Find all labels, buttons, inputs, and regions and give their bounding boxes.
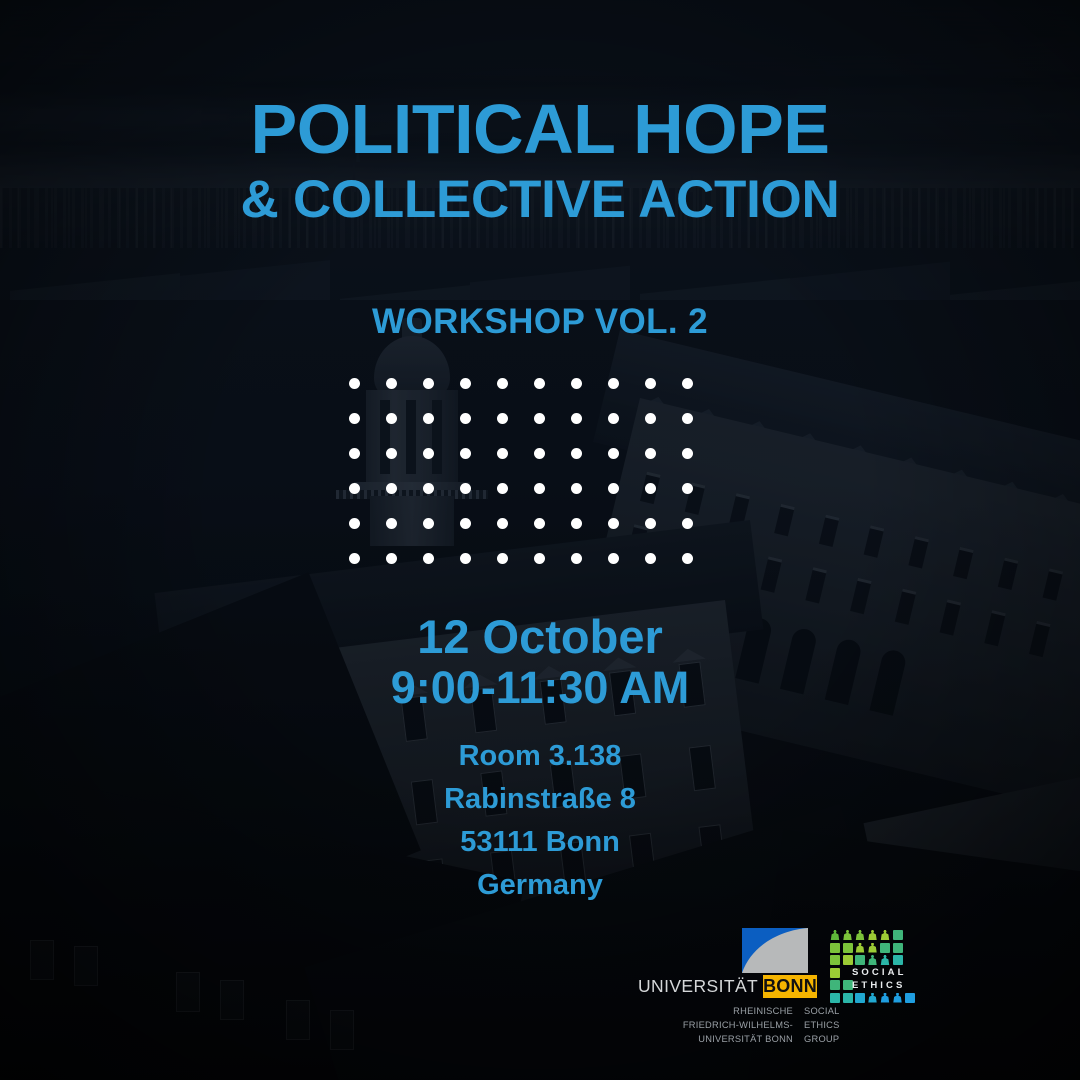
grid-dot	[571, 483, 582, 494]
social-ethics-word-ethics: ETHICS	[852, 981, 905, 991]
grid-dot	[386, 553, 397, 564]
logo-square	[880, 943, 890, 953]
logo-square	[893, 955, 903, 965]
grid-dot	[386, 483, 397, 494]
grid-dot	[645, 553, 656, 564]
caption-line: ETHICS	[804, 1018, 904, 1032]
poster-title: POLITICAL HOPE & COLLECTIVE ACTION	[0, 96, 1080, 226]
grid-dot	[571, 518, 582, 529]
grid-dot	[349, 483, 360, 494]
grid-dot	[608, 518, 619, 529]
poster-content: POLITICAL HOPE & COLLECTIVE ACTION WORKS…	[0, 0, 1080, 1080]
logo-square	[830, 980, 840, 990]
grid-dot	[682, 483, 693, 494]
universitaet-bonn-logo: UNIVERSITÄT BONN	[638, 928, 808, 998]
grid-dot	[460, 378, 471, 389]
grid-dot	[534, 413, 545, 424]
grid-dot	[497, 378, 508, 389]
grid-dot	[423, 413, 434, 424]
grid-dot	[608, 378, 619, 389]
logo-captions: RHEINISCHEFRIEDRICH-WILHELMS-UNIVERSITÄT…	[638, 1004, 908, 1050]
logo-person-icon	[868, 993, 878, 1003]
grid-dot	[608, 413, 619, 424]
caption-line: GROUP	[804, 1032, 904, 1046]
grid-dot	[682, 378, 693, 389]
logo-square	[893, 930, 903, 940]
grid-dot	[386, 378, 397, 389]
grid-dot	[571, 448, 582, 459]
grid-dot	[460, 553, 471, 564]
bonn-wordmark: UNIVERSITÄT BONN	[638, 975, 808, 998]
grid-dot	[682, 518, 693, 529]
bonn-mark-icon	[742, 928, 808, 973]
grid-dot	[608, 553, 619, 564]
logo-square	[843, 980, 853, 990]
decorative-dot-grid	[349, 378, 701, 566]
grid-dot	[423, 483, 434, 494]
social-ethics-caption: SOCIALETHICSGROUP	[804, 1004, 904, 1050]
caption-line: RHEINISCHE	[638, 1004, 793, 1018]
logo-person-icon	[880, 993, 890, 1003]
address-line: Rabinstraße 8	[0, 778, 1080, 821]
grid-dot	[349, 448, 360, 459]
logo-person-icon	[830, 930, 840, 940]
grid-dot	[645, 413, 656, 424]
grid-dot	[386, 518, 397, 529]
grid-dot	[645, 483, 656, 494]
grid-dot	[497, 483, 508, 494]
grid-dot	[386, 413, 397, 424]
logo-person-icon	[855, 943, 865, 953]
logo-square	[830, 955, 840, 965]
logo-square	[843, 943, 853, 953]
grid-dot	[534, 553, 545, 564]
logo-square	[855, 955, 865, 965]
grid-dot	[423, 378, 434, 389]
grid-dot	[534, 378, 545, 389]
title-line-1: POLITICAL HOPE	[0, 96, 1080, 163]
logo-person-icon	[880, 930, 890, 940]
poster-subtitle: WORKSHOP VOL. 2	[0, 302, 1080, 342]
logo-square	[893, 943, 903, 953]
address-line: Room 3.138	[0, 735, 1080, 778]
grid-dot	[349, 553, 360, 564]
grid-dot	[571, 378, 582, 389]
grid-dot	[497, 448, 508, 459]
logo-person-icon	[843, 930, 853, 940]
grid-dot	[497, 518, 508, 529]
bonn-caption: RHEINISCHEFRIEDRICH-WILHELMS-UNIVERSITÄT…	[638, 1004, 793, 1050]
logo-square	[905, 993, 915, 1003]
grid-dot	[534, 483, 545, 494]
grid-dot	[571, 553, 582, 564]
social-ethics-group-logo: SOCIAL ETHICS	[830, 930, 912, 994]
grid-dot	[534, 518, 545, 529]
event-date: 12 October	[0, 612, 1080, 662]
address-line: Germany	[0, 864, 1080, 907]
grid-dot	[423, 448, 434, 459]
grid-dot	[608, 483, 619, 494]
grid-dot	[349, 413, 360, 424]
grid-dot	[682, 413, 693, 424]
grid-dot	[349, 378, 360, 389]
grid-dot	[460, 413, 471, 424]
logo-person-icon	[855, 930, 865, 940]
grid-dot	[682, 448, 693, 459]
grid-dot	[460, 448, 471, 459]
event-address: Room 3.138Rabinstraße 853111 BonnGermany	[0, 735, 1080, 907]
bonn-badge: BONN	[763, 975, 817, 998]
caption-line: UNIVERSITÄT BONN	[638, 1032, 793, 1046]
grid-dot	[608, 448, 619, 459]
event-time: 9:00-11:30 AM	[0, 664, 1080, 712]
grid-dot	[497, 553, 508, 564]
grid-dot	[423, 553, 434, 564]
grid-dot	[497, 413, 508, 424]
grid-dot	[682, 553, 693, 564]
grid-dot	[423, 518, 434, 529]
event-poster: POLITICAL HOPE & COLLECTIVE ACTION WORKS…	[0, 0, 1080, 1080]
grid-dot	[386, 448, 397, 459]
logo-person-icon	[868, 930, 878, 940]
logo-square	[843, 993, 853, 1003]
grid-dot	[571, 413, 582, 424]
logo-square	[830, 993, 840, 1003]
logo-person-icon	[893, 993, 903, 1003]
title-line-2: & COLLECTIVE ACTION	[0, 173, 1080, 226]
logo-square	[830, 968, 840, 978]
logo-person-icon	[868, 943, 878, 953]
grid-dot	[645, 518, 656, 529]
grid-dot	[460, 518, 471, 529]
grid-dot	[460, 483, 471, 494]
social-ethics-word-social: SOCIAL	[852, 968, 907, 978]
logo-person-icon	[868, 955, 878, 965]
logo-square	[855, 993, 865, 1003]
grid-dot	[534, 448, 545, 459]
caption-line: FRIEDRICH-WILHELMS-	[638, 1018, 793, 1032]
logo-lockup: UNIVERSITÄT BONN SOCIAL ETHICS RHEINISCH…	[638, 928, 908, 1050]
logo-square	[830, 943, 840, 953]
grid-dot	[645, 378, 656, 389]
logo-square	[843, 955, 853, 965]
grid-dot	[349, 518, 360, 529]
event-schedule: 12 October 9:00-11:30 AM	[0, 612, 1080, 712]
address-line: 53111 Bonn	[0, 821, 1080, 864]
logo-person-icon	[880, 955, 890, 965]
grid-dot	[645, 448, 656, 459]
caption-line: SOCIAL	[804, 1004, 904, 1018]
bonn-universitaet-text: UNIVERSITÄT	[638, 975, 763, 998]
